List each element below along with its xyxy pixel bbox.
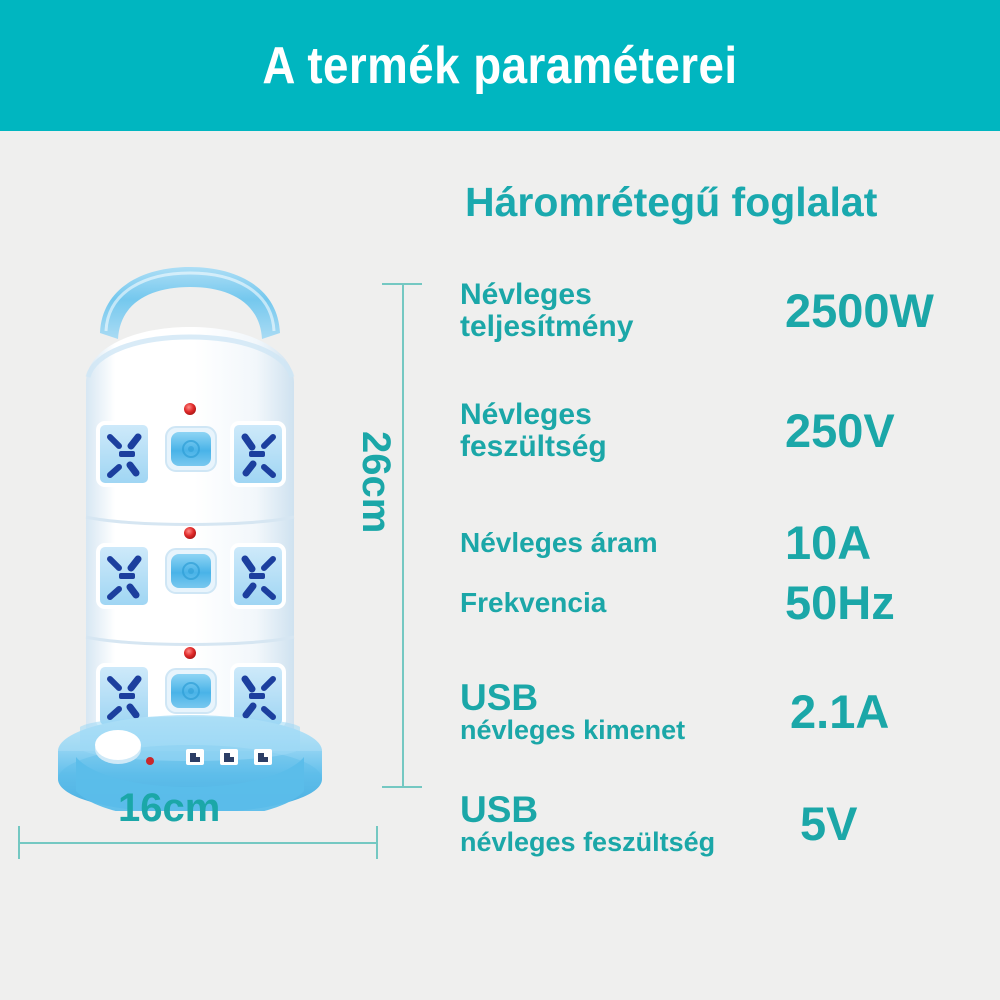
usb-port-2-icon bbox=[220, 749, 238, 765]
width-dimension-cap-right bbox=[376, 826, 378, 859]
width-dimension-label: 16cm bbox=[118, 786, 220, 831]
power-led-icon bbox=[184, 527, 196, 539]
spec-label-usb-voltage: USB névleges feszültség bbox=[440, 791, 800, 856]
spec-label-frequency: Frekvencia bbox=[440, 588, 785, 618]
spec-row-frequency: Frekvencia 50Hz bbox=[440, 579, 1000, 626]
spec-value-frequency: 50Hz bbox=[785, 579, 895, 626]
spec-row-usb-output: USB névleges kimenet 2.1A bbox=[440, 679, 1000, 744]
universal-socket-2-right bbox=[232, 545, 284, 607]
spec-row-rated-voltage: Névleges feszültség 250V bbox=[440, 399, 1000, 463]
usb-port-1-icon bbox=[186, 749, 204, 765]
spec-label-rated-current: Névleges áram bbox=[440, 528, 785, 558]
power-led-icon bbox=[184, 647, 196, 659]
spec-value-usb-output: 2.1A bbox=[790, 688, 889, 735]
spec-heading: Háromrétegű foglalat bbox=[465, 179, 877, 226]
spec-label-rated-voltage: Névleges feszültség bbox=[440, 399, 785, 463]
specification-panel: Háromrétegű foglalat Névleges teljesítmé… bbox=[440, 151, 1000, 891]
universal-socket-2-left bbox=[98, 545, 150, 607]
base-push-button bbox=[95, 730, 141, 764]
power-led-icon bbox=[184, 403, 196, 415]
base-indicator-led-icon bbox=[146, 757, 154, 765]
product-image bbox=[40, 251, 340, 811]
spec-row-rated-current: Névleges áram 10A bbox=[440, 519, 1000, 566]
height-dimension-line bbox=[402, 284, 404, 788]
universal-socket-1-left bbox=[98, 423, 150, 485]
width-dimension-line bbox=[18, 842, 378, 844]
universal-socket-1-right bbox=[232, 423, 284, 485]
rocker-switch-3 bbox=[166, 669, 216, 713]
width-dimension-cap-left bbox=[18, 826, 20, 859]
header-banner: A termék paraméterei bbox=[0, 0, 1000, 131]
spec-label-usb-output: USB névleges kimenet bbox=[440, 679, 790, 744]
rocker-switch-1 bbox=[166, 427, 216, 471]
spec-value-rated-current: 10A bbox=[785, 519, 871, 566]
rocker-switch-2 bbox=[166, 549, 216, 593]
height-dimension-cap-top bbox=[382, 283, 422, 285]
spec-row-rated-power: Névleges teljesítmény 2500W bbox=[440, 279, 1000, 343]
spec-row-usb-voltage: USB névleges feszültség 5V bbox=[440, 791, 1000, 856]
usb-port-3-icon bbox=[254, 749, 272, 765]
spec-value-usb-voltage: 5V bbox=[800, 800, 858, 847]
spec-value-rated-power: 2500W bbox=[785, 287, 934, 334]
page-title: A termék paraméterei bbox=[262, 36, 737, 96]
content-stage: 26cm 16cm Háromrétegű foglalat Névleges … bbox=[0, 131, 1000, 1000]
height-dimension-cap-bottom bbox=[382, 786, 422, 788]
height-dimension-label: 26cm bbox=[353, 431, 398, 533]
spec-label-rated-power: Névleges teljesítmény bbox=[440, 279, 785, 343]
spec-value-rated-voltage: 250V bbox=[785, 407, 895, 454]
